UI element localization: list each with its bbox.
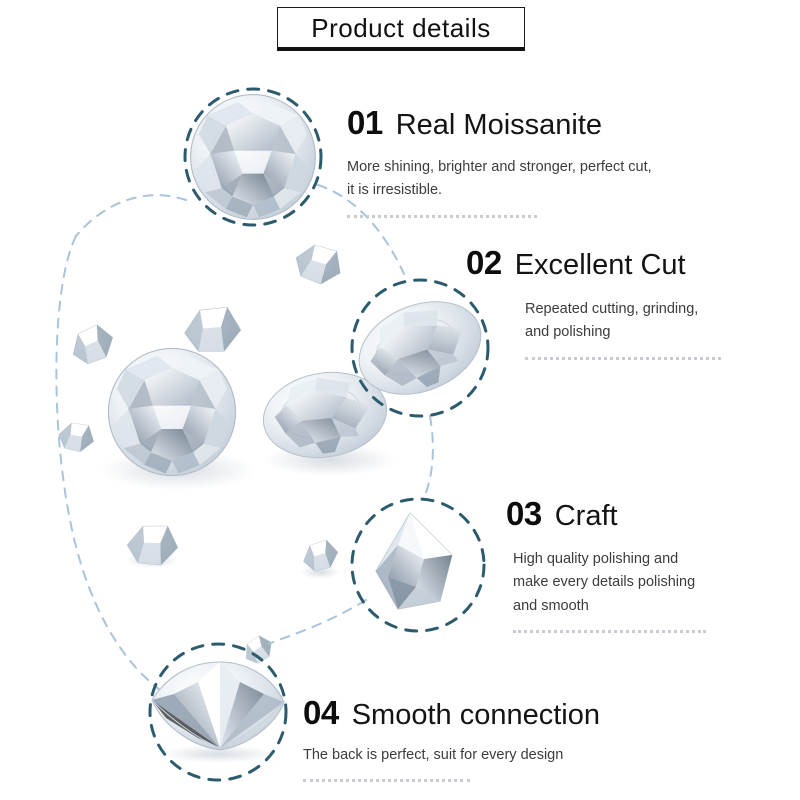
showcase-gem-03 <box>376 513 452 609</box>
feature-divider-01 <box>347 212 537 218</box>
feature-heading-01: 01 Real Moissanite <box>347 106 652 140</box>
page-title: Product details <box>311 15 490 41</box>
feature-number-02: 02 <box>466 246 502 279</box>
connector-dashed-path <box>56 185 433 690</box>
showcase-gem-01 <box>191 95 316 220</box>
feature-divider-02 <box>525 354 721 360</box>
feature-body-03: High quality polishing and make every de… <box>513 548 706 618</box>
callout-circle-04 <box>150 644 286 780</box>
feature-title-02: Excellent Cut <box>515 251 686 280</box>
feature-number-01: 01 <box>347 106 383 139</box>
feature-heading-03: 03 Craft <box>506 497 706 531</box>
feature-body-04: The back is perfect, suit for every desi… <box>303 744 600 767</box>
page-title-box: Product details <box>277 7 525 51</box>
feature-block-01: 01 Real Moissanite More shining, brighte… <box>347 106 652 218</box>
feature-divider-03 <box>513 627 706 633</box>
feature-block-02: 02 Excellent Cut Repeated cutting, grind… <box>466 246 721 360</box>
feature-heading-02: 02 Excellent Cut <box>466 246 721 280</box>
product-details-infographic: Product details 01 Real Moissanite More … <box>0 0 800 800</box>
feature-title-01: Real Moissanite <box>396 111 602 140</box>
feature-divider-04 <box>303 776 470 782</box>
feature-title-03: Craft <box>555 502 618 531</box>
feature-body-02: Repeated cutting, grinding, and polishin… <box>525 298 721 345</box>
callout-circle-01 <box>185 89 321 225</box>
showcase-gem-04 <box>152 662 284 763</box>
feature-heading-04: 04 Smooth connection <box>303 696 600 730</box>
callout-circle-03 <box>352 499 484 631</box>
feature-block-03: 03 Craft High quality polishing and make… <box>506 497 706 633</box>
background-gem-cluster <box>56 238 393 667</box>
feature-number-03: 03 <box>506 497 542 530</box>
feature-body-01: More shining, brighter and stronger, per… <box>347 156 652 203</box>
feature-number-04: 04 <box>303 696 339 729</box>
feature-title-04: Smooth connection <box>352 701 600 730</box>
feature-block-04: 04 Smooth connection The back is perfect… <box>303 696 600 782</box>
